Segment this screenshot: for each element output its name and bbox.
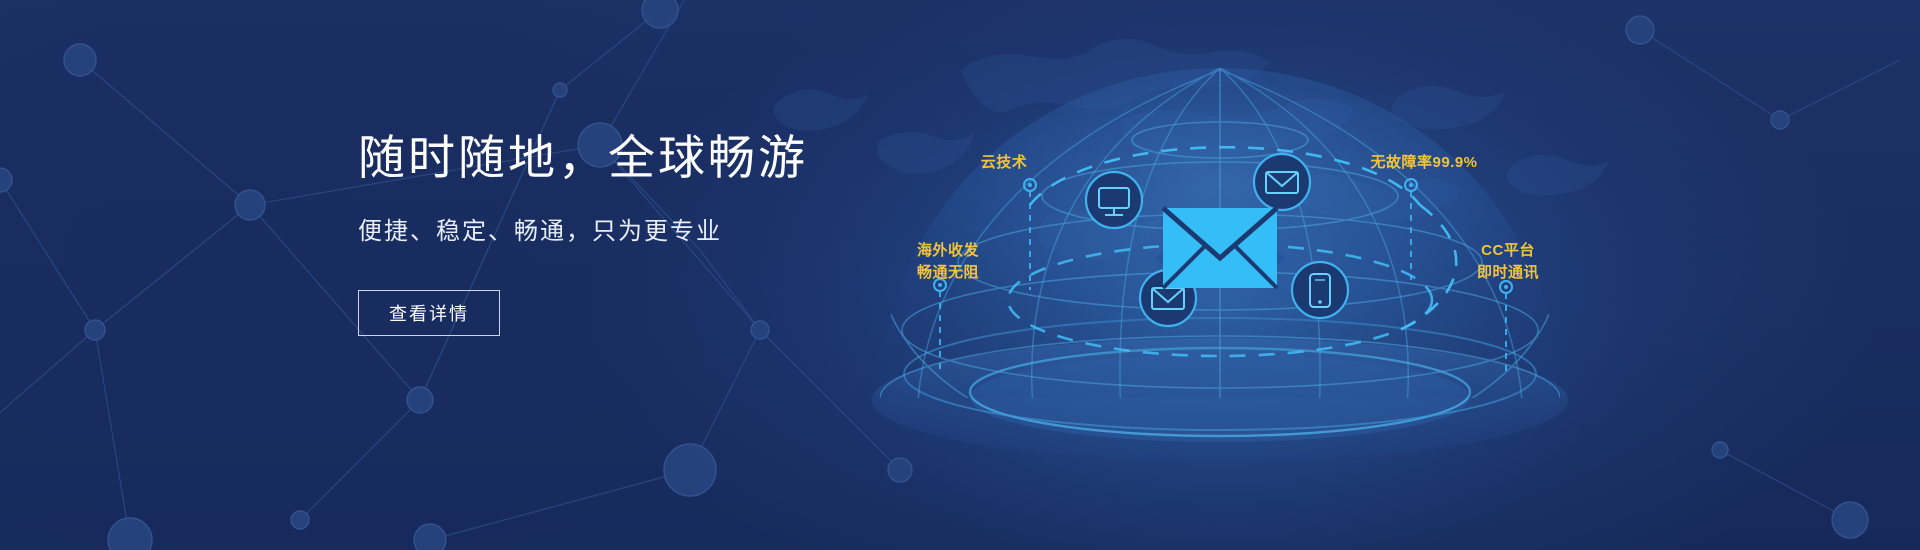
callout-pin-cloud xyxy=(1024,179,1036,290)
mobile-phone-icon xyxy=(1292,262,1348,318)
callout-line: 云技术 xyxy=(981,152,1028,174)
page-subtitle: 便捷、稳定、畅通，只为更专业 xyxy=(358,216,918,247)
hero-banner: 随时随地，全球畅游 便捷、稳定、畅通，只为更专业 查看详情 xyxy=(0,0,1920,550)
callout-line: CC平台 xyxy=(1477,240,1539,262)
callout-pin-uptime xyxy=(1405,179,1417,280)
envelope-outline-icon xyxy=(1254,154,1310,210)
hero-copy: 随时随地，全球畅游 便捷、稳定、畅通，只为更专业 查看详情 xyxy=(358,130,918,336)
view-details-button[interactable]: 查看详情 xyxy=(358,290,500,336)
callout-label-cc: CC平台 即时通讯 xyxy=(1477,240,1539,284)
callout-label-cloud: 云技术 xyxy=(981,152,1028,174)
callout-pin-cc xyxy=(1500,281,1512,375)
callout-pin-overseas xyxy=(934,279,946,375)
envelope-icon xyxy=(1156,208,1284,288)
envelope-outline-icon xyxy=(1140,270,1196,326)
callout-line: 无故障率99.9% xyxy=(1370,152,1477,174)
callout-label-uptime: 无故障率99.9% xyxy=(1370,152,1477,174)
monitor-icon xyxy=(1086,172,1142,228)
page-title: 随时随地，全球畅游 xyxy=(358,130,918,186)
callout-label-overseas: 海外收发 畅通无阻 xyxy=(917,240,979,284)
callout-line: 畅通无阻 xyxy=(917,262,979,284)
callout-line: 即时通讯 xyxy=(1477,262,1539,284)
callout-line: 海外收发 xyxy=(917,240,979,262)
